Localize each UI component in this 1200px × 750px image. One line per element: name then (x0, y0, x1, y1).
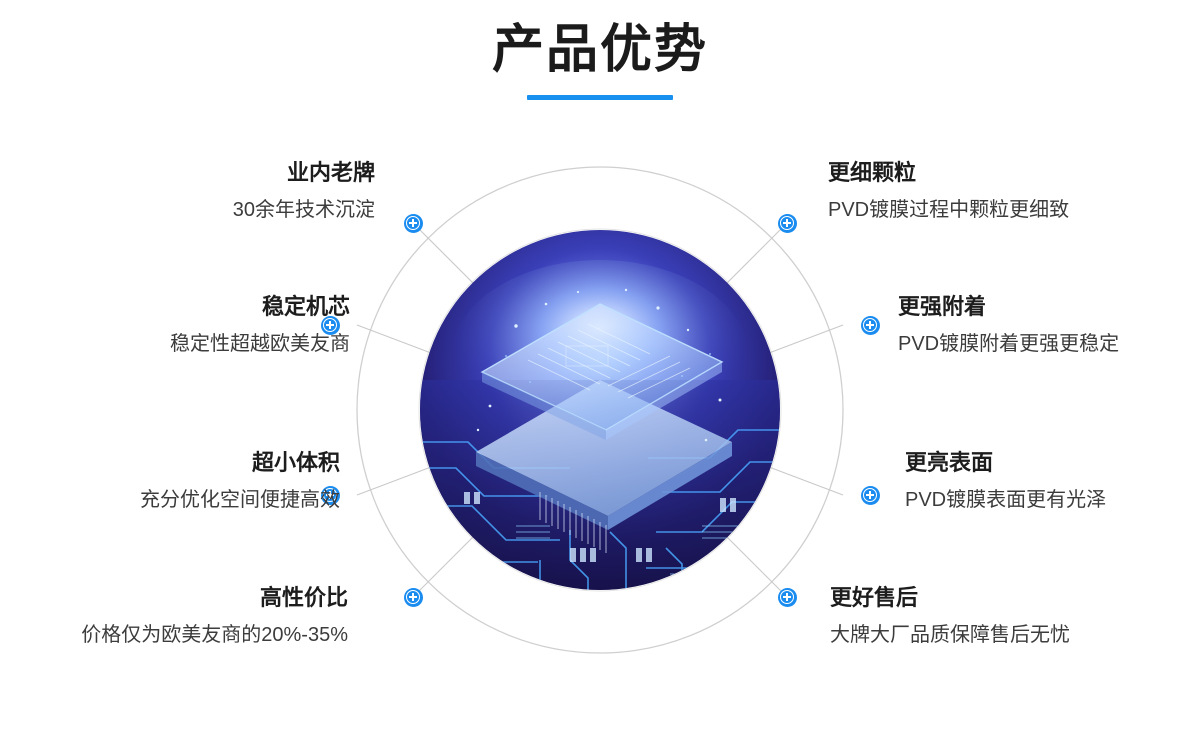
feature-label-finer-particles[interactable]: 更细颗粒 PVD镀膜过程中颗粒更细致 (828, 158, 1158, 225)
feature-title: 业内老牌 (45, 158, 375, 188)
title-underline-accent (527, 95, 673, 100)
plus-icon-vertical (869, 491, 871, 499)
feature-desc: 30余年技术沉淀 (45, 196, 375, 225)
plus-icon-vertical (412, 593, 414, 601)
feature-desc: PVD镀膜表面更有光泽 (905, 486, 1200, 515)
node-plus-finer-particles[interactable] (778, 214, 797, 233)
feature-label-stable-core[interactable]: 稳定机芯 稳定性超越欧美友商 (20, 292, 350, 359)
feature-hub-diagram (345, 155, 855, 665)
node-plus-veteran-brand[interactable] (404, 214, 423, 233)
plus-icon-vertical (786, 219, 788, 227)
feature-desc: 充分优化空间便捷高效 (10, 486, 340, 515)
feature-label-better-service[interactable]: 更好售后 大牌大厂品质保障售后无忧 (830, 583, 1160, 650)
node-plus-better-service[interactable] (778, 588, 797, 607)
feature-label-cost-effective[interactable]: 高性价比 价格仅为欧美友商的20%-35% (18, 583, 348, 650)
feature-label-veteran-brand[interactable]: 业内老牌 30余年技术沉淀 (45, 158, 375, 225)
plus-icon-vertical (412, 219, 414, 227)
chip-illustration (420, 230, 780, 590)
node-plus-cost-effective[interactable] (404, 588, 423, 607)
node-plus-stronger-adhesion[interactable] (861, 316, 880, 335)
page-header: 产品优势 (0, 0, 1200, 100)
feature-title: 稳定机芯 (20, 292, 350, 322)
node-plus-brighter-surface[interactable] (861, 486, 880, 505)
feature-title: 更细颗粒 (828, 158, 1158, 188)
feature-desc: 价格仅为欧美友商的20%-35% (18, 621, 348, 650)
feature-label-brighter-surface[interactable]: 更亮表面 PVD镀膜表面更有光泽 (905, 448, 1200, 515)
feature-desc: 大牌大厂品质保障售后无忧 (830, 621, 1160, 650)
center-chip-image (420, 230, 780, 590)
feature-desc: 稳定性超越欧美友商 (20, 330, 350, 359)
page-title: 产品优势 (0, 22, 1200, 79)
plus-icon-vertical (869, 321, 871, 329)
feature-title: 高性价比 (18, 583, 348, 613)
feature-desc: PVD镀膜过程中颗粒更细致 (828, 196, 1158, 225)
plus-icon-vertical (786, 593, 788, 601)
feature-label-compact-size[interactable]: 超小体积 充分优化空间便捷高效 (10, 448, 340, 515)
feature-label-stronger-adhesion[interactable]: 更强附着 PVD镀膜附着更强更稳定 (898, 292, 1200, 359)
feature-title: 更好售后 (830, 583, 1160, 613)
feature-title: 更强附着 (898, 292, 1200, 322)
feature-title: 超小体积 (10, 448, 340, 478)
feature-desc: PVD镀膜附着更强更稳定 (898, 330, 1200, 359)
feature-title: 更亮表面 (905, 448, 1200, 478)
